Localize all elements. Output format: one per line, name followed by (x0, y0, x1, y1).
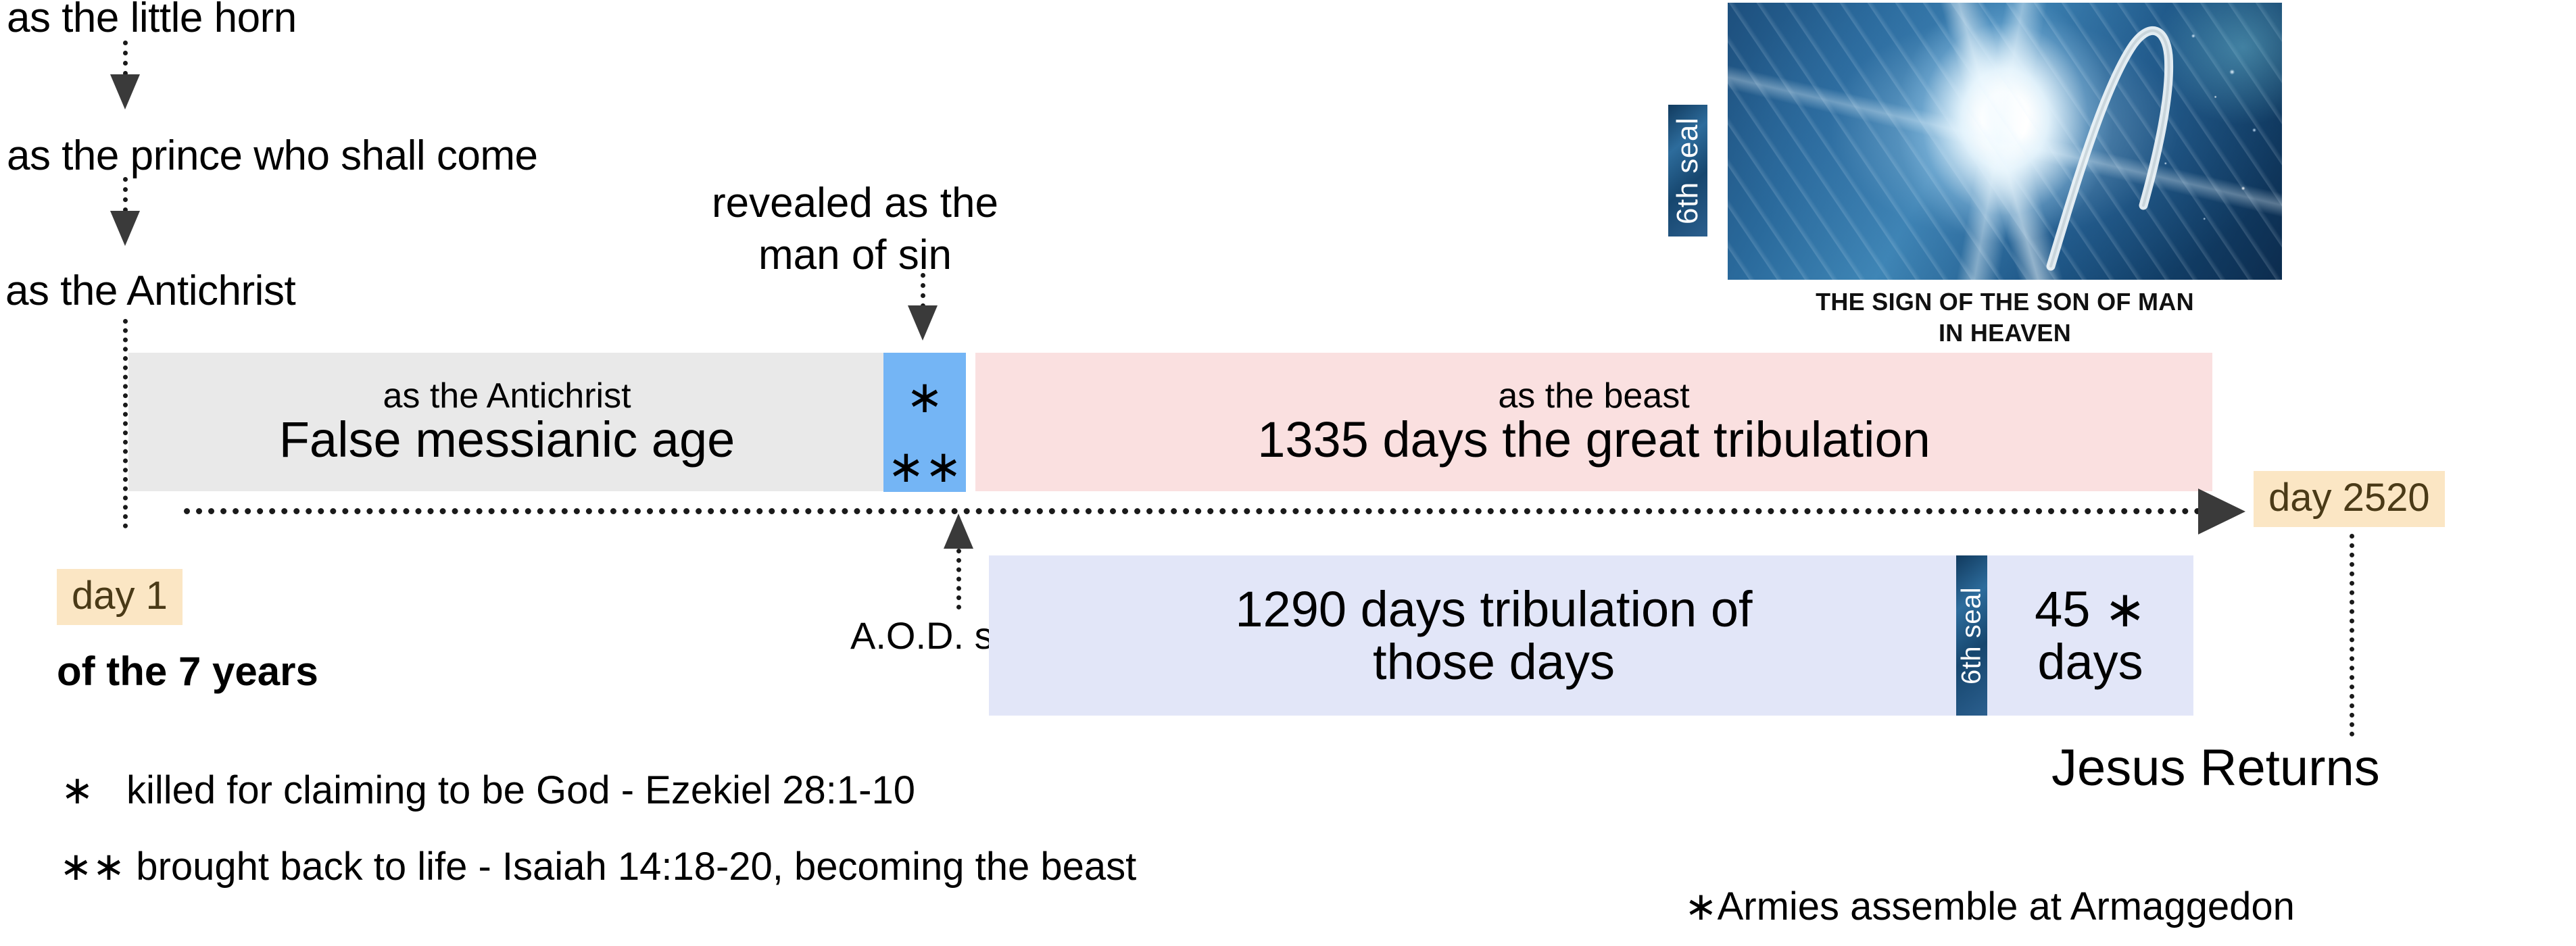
footnote-single-asterisk: ∗ killed for claiming to be God - Ezekie… (61, 767, 915, 813)
asterisk-marker-top: ∗ (906, 371, 943, 423)
cascade-label-little-horn: as the little horn (7, 0, 297, 40)
callout-revealed-connector-dots (921, 273, 925, 308)
cascade-arrow-down-1-icon (110, 74, 140, 109)
bar-blue-6th-seal-ribbon: 6th seal (1956, 555, 1987, 716)
cascade-label-prince-who-shall-come: as the prince who shall come (7, 134, 538, 178)
footnote-double-asterisk: ∗∗ brought back to life - Isaiah 14:18-2… (59, 843, 1136, 889)
picture-6th-seal-label: 6th seal (1671, 117, 1705, 224)
bar-gray-main: False messianic age (279, 414, 735, 466)
bar-great-tribulation: as the beast 1335 days the great tribula… (975, 353, 2212, 491)
marker-day-1: day 1 (57, 569, 183, 625)
bar-blue-main-line2: those days (1373, 636, 1615, 689)
timeline-arrow-right-icon (2198, 489, 2245, 534)
bar-gray-kicker: as the Antichrist (383, 378, 631, 414)
footnote-armies-assemble: ∗Armies assemble at Armaggedon (1684, 883, 2295, 929)
cascade-arrow-down-2-icon (110, 211, 140, 246)
bar-45-days-line1: 45 ∗ (2035, 583, 2146, 636)
bar-45-days-line2: days (2037, 636, 2143, 689)
timeline-dotted-axis (184, 508, 2202, 514)
timeline-start-vertical-dots (123, 319, 128, 528)
day-2520-vertical-dots (2350, 534, 2354, 737)
cascade-connector-dots-1 (123, 41, 128, 76)
prophetic-timeline-diagram: as the little horn as the prince who sha… (0, 0, 2576, 946)
bar-45-days: 45 ∗ days (1987, 555, 2193, 716)
bar-pink-kicker: as the beast (1498, 378, 1689, 414)
aod-arrow-up-icon (944, 514, 973, 549)
picture-caption-line2: IN HEAVEN (1728, 318, 2282, 349)
callout-revealed-arrow-down-icon (908, 305, 938, 341)
cascade-label-antichrist: as the Antichrist (5, 269, 295, 313)
bar-pink-main: 1335 days the great tribulation (1257, 414, 1930, 466)
picture-caption: THE SIGN OF THE SON OF MAN IN HEAVEN (1728, 287, 2282, 349)
aod-connector-dots (956, 549, 961, 609)
asterisk-marker-bottom: ∗∗ (888, 441, 963, 493)
bar-false-messianic-age: as the Antichrist False messianic age (128, 353, 885, 491)
sign-arc-icon (1728, 3, 2282, 280)
marker-day-2520: day 2520 (2254, 471, 2445, 527)
bar-blue-6th-seal-label: 6th seal (1957, 587, 1987, 684)
sign-of-the-son-of-man-image (1728, 3, 2282, 280)
picture-6th-seal-ribbon: 6th seal (1668, 105, 1707, 236)
bar-asterisk-marker: ∗ ∗∗ (883, 353, 966, 492)
callout-revealed-line2: man of sin (676, 233, 1034, 277)
marker-day-1-subtitle: of the 7 years (57, 650, 318, 693)
marker-jesus-returns: Jesus Returns (2051, 739, 2380, 797)
cascade-connector-dots-2 (123, 177, 128, 212)
callout-revealed-line1: revealed as the (676, 181, 1034, 225)
picture-caption-line1: THE SIGN OF THE SON OF MAN (1728, 287, 2282, 318)
bar-1290-days-tribulation: 1290 days tribulation of those days (989, 555, 1999, 716)
bar-blue-main-line1: 1290 days tribulation of (1235, 583, 1752, 636)
